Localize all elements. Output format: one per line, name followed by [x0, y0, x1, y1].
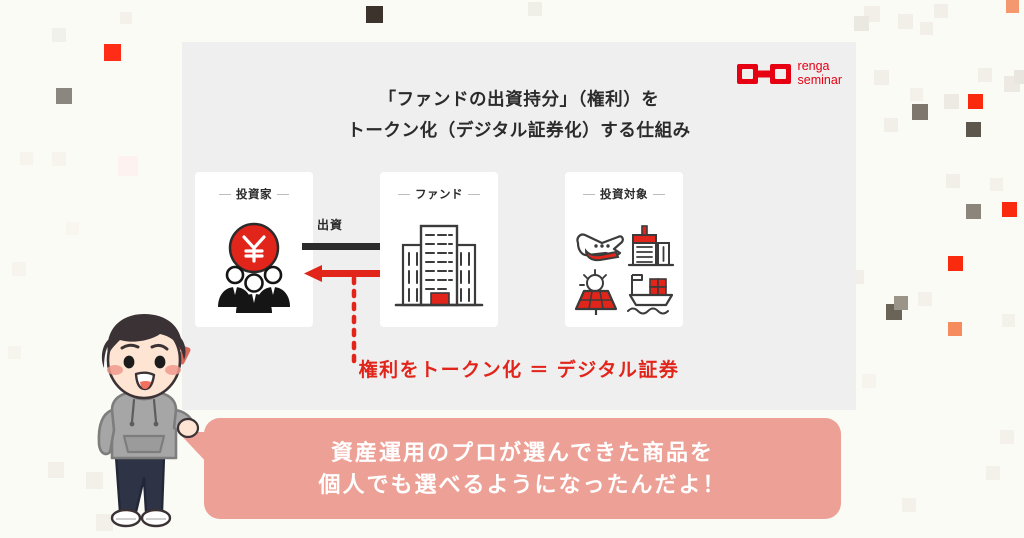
card-investor-body: [195, 208, 313, 321]
pants: [116, 456, 164, 512]
decor-square: [898, 14, 913, 29]
bubble-line-2: 個人でも選べるようになったんだよ！: [318, 469, 726, 501]
office-building-icon: [390, 215, 488, 315]
decor-square: [20, 152, 33, 165]
bubble-line-1: 資産運用のプロが選んできた商品を: [331, 437, 714, 469]
boy-with-pointer-character: [72, 306, 232, 538]
card-target-body: [565, 208, 683, 321]
decor-square: [66, 222, 79, 235]
speech-bubble: 資産運用のプロが選んできた商品を 個人でも選べるようになったんだよ！: [204, 418, 841, 519]
decor-square: [862, 374, 876, 388]
card-investor-title: 投資家: [236, 186, 272, 202]
card-target-title: 投資対象: [600, 186, 648, 202]
investor-icon-group: [208, 215, 300, 315]
decor-square: [894, 296, 908, 310]
decor-square: [886, 304, 902, 320]
title-dash-left: [583, 194, 595, 195]
decor-square: [910, 88, 923, 101]
headline-line-1: 「ファンドの出資持分」（権利）を: [182, 84, 856, 115]
decor-square: [990, 178, 1003, 191]
card-target-title-row: 投資対象: [565, 186, 683, 202]
decor-square: [1006, 0, 1019, 13]
title-dash-right: [653, 194, 665, 195]
yen-coin-icon: [230, 224, 278, 272]
decor-square: [56, 88, 72, 104]
card-investor: 投資家: [195, 172, 313, 327]
decor-square: [1000, 430, 1014, 444]
title-dash-left: [398, 194, 410, 195]
decor-square: [966, 204, 981, 219]
decor-square: [944, 94, 959, 109]
decor-square: [920, 22, 933, 35]
decor-square: [104, 44, 121, 61]
logo-wordmark: renga seminar: [798, 60, 842, 87]
hand: [178, 419, 198, 437]
red-caption: 権利をトークン化 ＝ デジタル証券: [182, 355, 856, 382]
decor-square: [946, 174, 960, 188]
decor-square: [884, 118, 898, 132]
decor-square: [948, 256, 963, 271]
decor-square: [118, 156, 138, 176]
decor-square: [366, 6, 383, 23]
arrow-label-investment: 出資: [317, 216, 343, 233]
decor-square: [1014, 70, 1024, 84]
decor-square: [1004, 76, 1020, 92]
card-fund-title-row: ファンド: [380, 186, 498, 202]
shoes: [112, 510, 170, 526]
decor-square: [968, 94, 983, 109]
card-target: 投資対象: [565, 172, 683, 327]
decor-square: [854, 16, 869, 31]
decor-square: [52, 152, 66, 166]
card-investor-title-row: 投資家: [195, 186, 313, 202]
diagram-panel: renga seminar 「ファンドの出資持分」（権利）を トークン化（デジタ…: [182, 42, 856, 410]
decor-square: [52, 28, 66, 42]
decor-square: [934, 4, 948, 18]
cargo-ship-icon: [628, 275, 672, 314]
decor-square: [966, 122, 981, 137]
title-dash-left: [219, 194, 231, 195]
decor-square: [864, 6, 880, 22]
buildings-icon: [629, 226, 673, 265]
decor-square: [986, 466, 1000, 480]
decor-square: [978, 68, 992, 82]
solar-panel-icon: [576, 270, 616, 315]
card-fund-body: [380, 208, 498, 321]
decor-square: [48, 462, 64, 478]
headline-line-2: トークン化（デジタル証券化）する仕組み: [182, 115, 856, 146]
decor-square: [918, 292, 932, 306]
head: [102, 314, 186, 398]
renga-logo-mark: [737, 62, 791, 86]
decor-square: [1002, 202, 1017, 217]
decor-square: [912, 104, 928, 120]
logo-line-1: renga: [798, 60, 842, 74]
decor-square: [120, 12, 132, 24]
renga-seminar-logo: renga seminar: [737, 60, 842, 87]
page-title: 「ファンドの出資持分」（権利）を トークン化（デジタル証券化）する仕組み: [182, 84, 856, 145]
decor-square: [528, 2, 542, 16]
title-dash-right: [468, 194, 480, 195]
airplane-icon: [577, 234, 622, 260]
decor-square: [902, 498, 916, 512]
decor-square: [12, 262, 26, 276]
investment-target-icons: [572, 213, 676, 317]
decor-square: [1002, 314, 1015, 327]
title-dash-right: [277, 194, 289, 195]
card-fund-title: ファンド: [415, 186, 463, 202]
decor-square: [8, 346, 21, 359]
card-fund: ファンド: [380, 172, 498, 327]
decor-square: [948, 322, 962, 336]
decor-square: [874, 70, 889, 85]
